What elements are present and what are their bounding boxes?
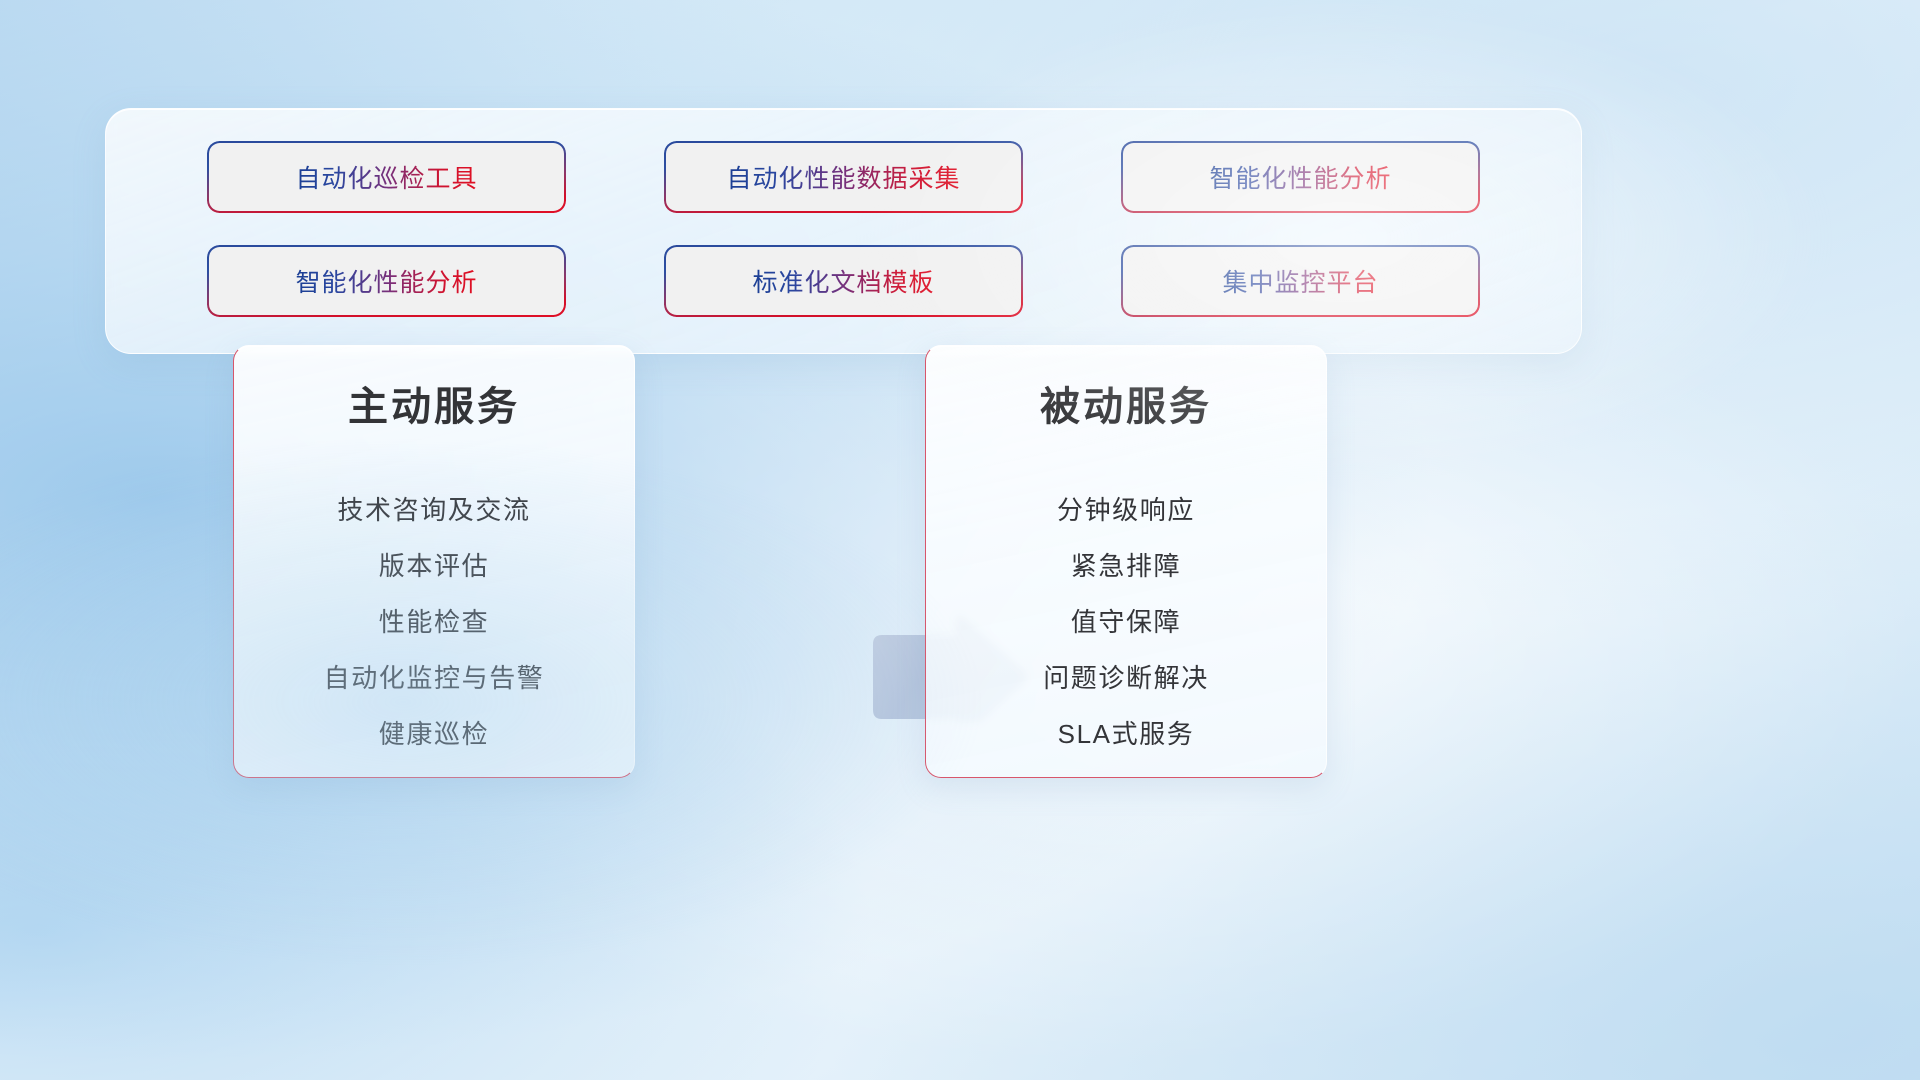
capability-chip-label: 标准化文档模板: [752, 263, 934, 299]
card-title: 被动服务: [1040, 382, 1212, 432]
card-title: 主动服务: [348, 382, 520, 432]
card-content: 被动服务 分钟级响应 紧急排障 值守保障 问题诊断解决 SLA式服务: [926, 346, 1326, 777]
list-item: 问题诊断解决: [1043, 650, 1209, 706]
capability-chip[interactable]: 智能化性能分析: [1123, 143, 1479, 211]
capability-chip-label: 集中监控平台: [1222, 263, 1378, 299]
card-content: 主动服务 技术咨询及交流 版本评估 性能检查 自动化监控与告警 健康巡检: [234, 346, 634, 777]
capability-chip-label: 自动化性能数据采集: [726, 159, 960, 195]
capability-chip[interactable]: 集中监控平台: [1123, 247, 1479, 315]
slide-canvas: 自动化巡检工具 自动化性能数据采集 智能化性能分析 智能化性能分析 标准化文档模…: [0, 0, 1920, 1080]
service-card-reactive[interactable]: 被动服务 分钟级响应 紧急排障 值守保障 问题诊断解决 SLA式服务: [925, 345, 1327, 778]
capability-chip-label: 自动化巡检工具: [295, 159, 477, 195]
capability-chip-label: 智能化性能分析: [295, 263, 477, 299]
list-item: 值守保障: [1071, 594, 1181, 650]
list-item: 性能检查: [379, 594, 489, 650]
capability-panel: 自动化巡检工具 自动化性能数据采集 智能化性能分析 智能化性能分析 标准化文档模…: [105, 108, 1582, 354]
list-item: 技术咨询及交流: [337, 482, 530, 538]
service-card-proactive[interactable]: 主动服务 技术咨询及交流 版本评估 性能检查 自动化监控与告警 健康巡检: [233, 345, 635, 778]
list-item: SLA式服务: [1058, 706, 1195, 762]
list-item: 自动化监控与告警: [324, 650, 545, 706]
capability-chip[interactable]: 智能化性能分析: [209, 247, 565, 315]
card-item-list: 分钟级响应 紧急排障 值守保障 问题诊断解决 SLA式服务: [956, 482, 1296, 762]
card-item-list: 技术咨询及交流 版本评估 性能检查 自动化监控与告警 健康巡检: [264, 482, 604, 762]
list-item: 健康巡检: [379, 706, 489, 762]
list-item: 分钟级响应: [1057, 482, 1195, 538]
list-item: 紧急排障: [1071, 538, 1181, 594]
capability-chip-label: 智能化性能分析: [1209, 159, 1391, 195]
list-item: 版本评估: [379, 538, 489, 594]
capability-chip[interactable]: 标准化文档模板: [666, 247, 1022, 315]
capability-chip[interactable]: 自动化巡检工具: [209, 143, 565, 211]
capability-chip[interactable]: 自动化性能数据采集: [666, 143, 1022, 211]
